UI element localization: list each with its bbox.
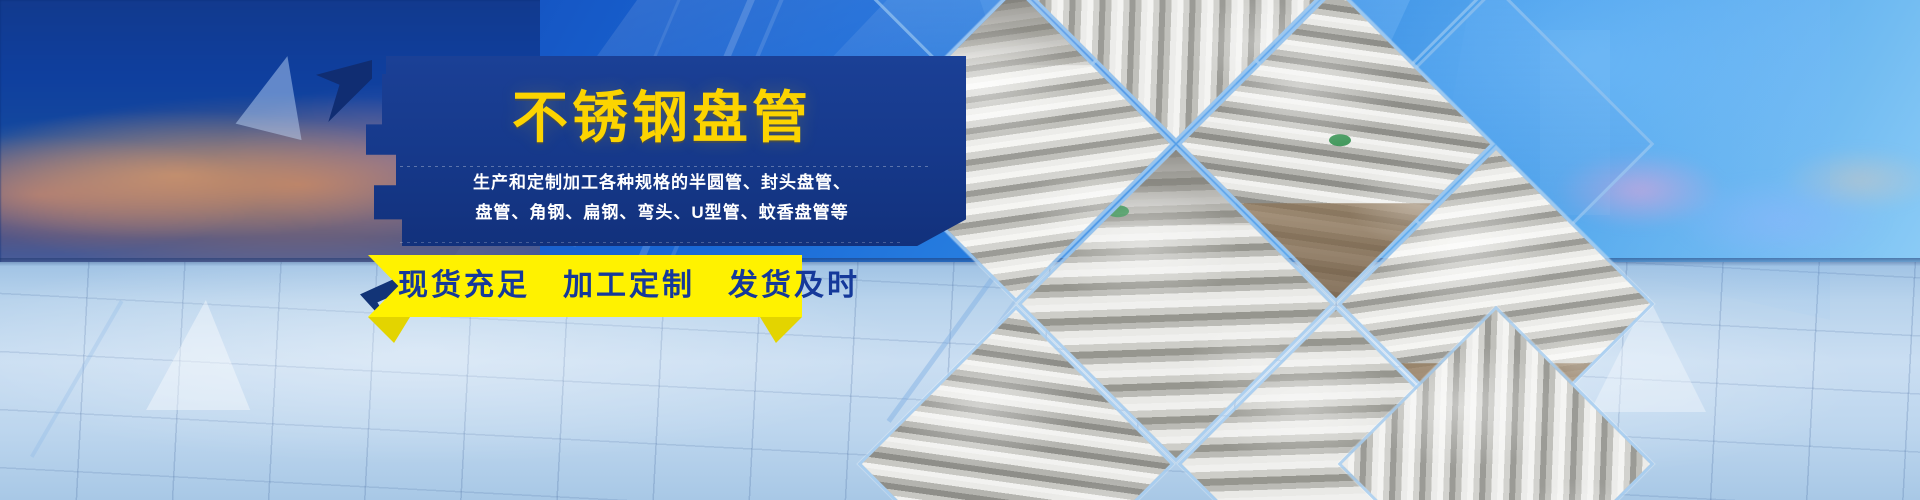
subtitle-line-2: 盘管、角钢、扁钢、弯头、U型管、蚊香盘管等 bbox=[372, 198, 952, 228]
page-title: 不锈钢盘管 bbox=[372, 88, 952, 148]
decorative-triangle bbox=[146, 300, 258, 410]
panel-divider bbox=[400, 242, 900, 243]
panel-divider bbox=[400, 166, 930, 167]
feature-ribbon-text: 现货充足 加工定制 发货及时 bbox=[398, 268, 788, 304]
subtitle-block: 生产和定制加工各种规格的半圆管、封头盘管、 盘管、角钢、扁钢、弯头、U型管、蚊香… bbox=[372, 168, 952, 228]
subtitle-line-1: 生产和定制加工各种规格的半圆管、封头盘管、 bbox=[372, 168, 952, 198]
promo-banner: 不锈钢盘管 生产和定制加工各种规格的半圆管、封头盘管、 盘管、角钢、扁钢、弯头、… bbox=[0, 0, 1920, 500]
